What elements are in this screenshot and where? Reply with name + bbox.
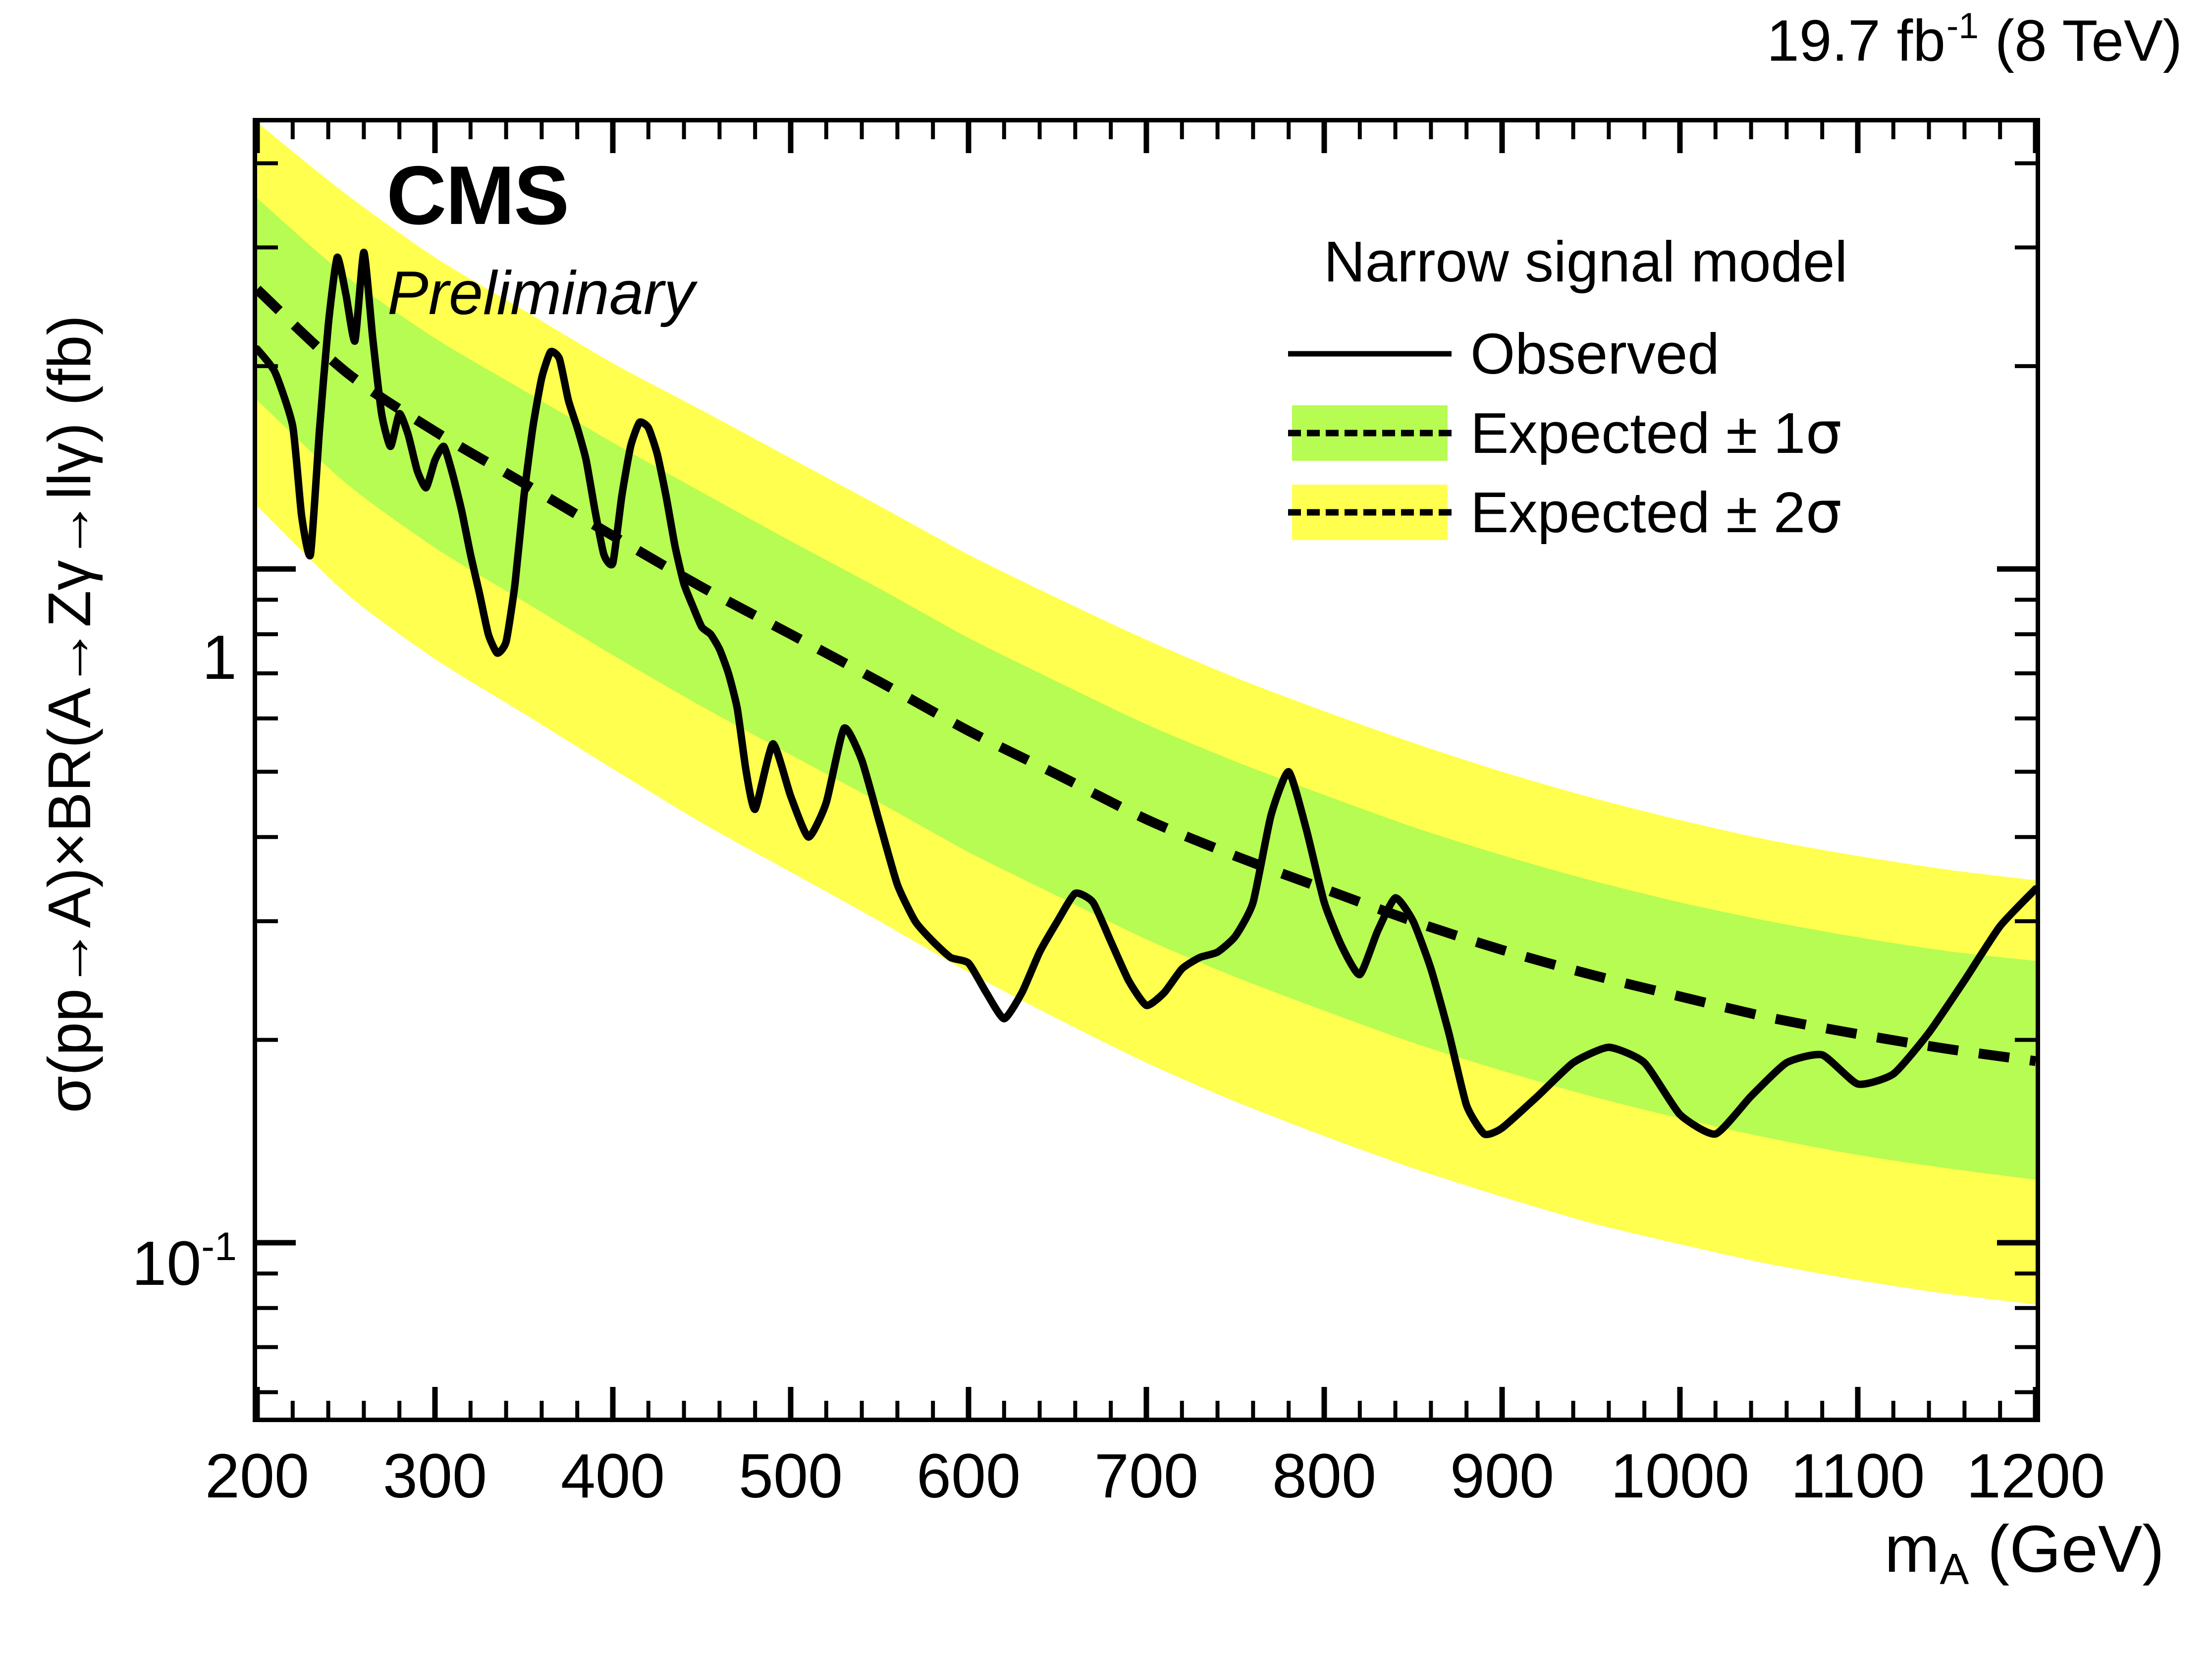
legend-title: Narrow signal model [1324,233,2031,290]
legend: Narrow signal model Observed Expected ± … [1288,233,2031,554]
x-tick-900: 900 [1450,1445,1554,1507]
dashed-line-icon [1288,430,1452,437]
x-tick-600: 600 [917,1445,1021,1507]
x-tick-700: 700 [1094,1445,1198,1507]
x-tick-800: 800 [1272,1445,1376,1507]
x-tick-500: 500 [739,1445,843,1507]
x-tick-300: 300 [383,1445,487,1507]
y-tick-10e-1: 10-1 [132,1227,237,1295]
y-tick-1: 1 [202,626,237,689]
x-tick-1100: 1100 [1791,1445,1925,1507]
legend-key-yellow-band [1288,483,1452,542]
x-tick-200: 200 [205,1445,309,1507]
y-axis-title: σ(pp→A)×BR(A→Zγ→llγ) (fb) [39,119,100,1309]
legend-label-expected-1sigma: Expected ± 1σ [1470,404,1842,462]
cms-logo-text: CMS [386,154,568,237]
collision-energy: (8 TeV) [1979,8,2182,73]
x-tick-1200: 1200 [1966,1445,2105,1507]
legend-label-observed: Observed [1470,325,1720,383]
legend-label-expected-2sigma: Expected ± 2σ [1470,484,1842,542]
luminosity-value: 19.7 fb [1767,8,1945,73]
dashed-line-icon [1288,509,1452,516]
preliminary-label: Preliminary [387,263,695,324]
x-axis-tick-labels: 200300400500600700800900100011001200 [0,1445,2212,1544]
luminosity-label: 19.7 fb-1 (8 TeV) [1767,5,2182,74]
legend-key-green-band [1288,403,1452,463]
figure-root: 19.7 fb-1 (8 TeV) 1 10-1 σ(pp→A)×BR(A→Zγ… [0,0,2212,1654]
sigma-symbol-2: σ [1805,479,1842,546]
sigma-symbol-1: σ [1805,400,1842,467]
legend-entry-expected-2sigma: Expected ± 2σ [1288,475,2031,550]
x-tick-400: 400 [561,1445,665,1507]
legend-key-observed-line [1288,324,1452,384]
luminosity-exponent: -1 [1946,5,1979,46]
legend-entry-expected-1sigma: Expected ± 1σ [1288,395,2031,471]
legend-entry-observed: Observed [1288,316,2031,391]
x-axis-title: mA (GeV) [1885,1516,2164,1591]
x-tick-1000: 1000 [1611,1445,1749,1507]
